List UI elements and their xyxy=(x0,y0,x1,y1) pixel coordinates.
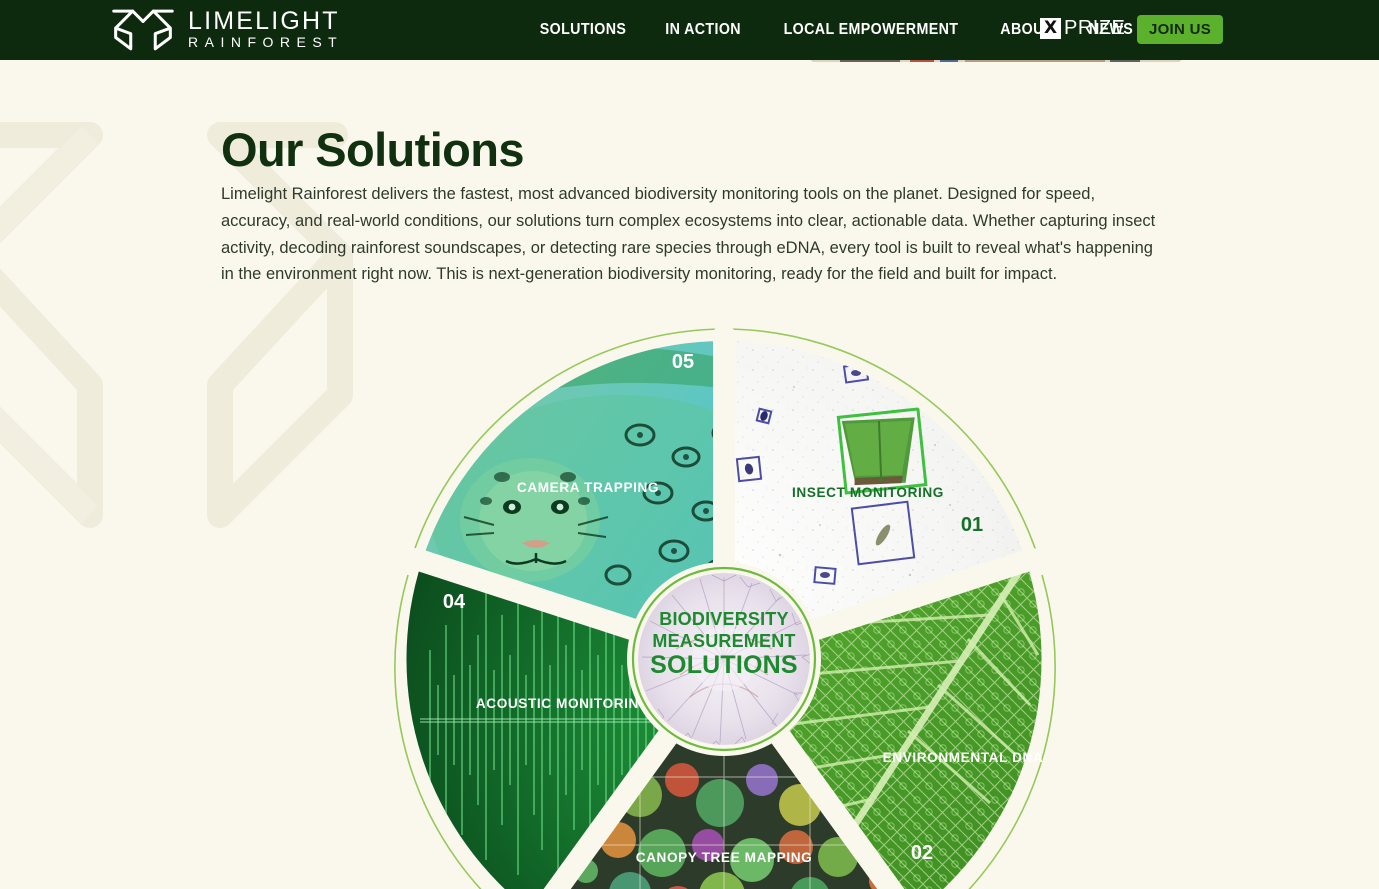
segment-number-04: 04 xyxy=(443,591,466,613)
xprize-wordmark: PRIZE xyxy=(1064,18,1125,39)
butterfly-logo-icon xyxy=(110,6,176,52)
segment-label-camera-trapping: CAMERA TRAPPING xyxy=(517,480,659,495)
segment-number-01: 01 xyxy=(961,514,983,536)
xprize-logo[interactable]: X PRIZE xyxy=(1040,18,1125,39)
xprize-x-icon: X xyxy=(1040,18,1061,39)
nav-item-in-action[interactable]: IN ACTION xyxy=(651,21,756,39)
page-title: Our Solutions xyxy=(221,122,524,178)
solutions-wheel-diagram: INSECT MONITORING 01 xyxy=(390,325,1058,889)
nav-item-solutions[interactable]: SOLUTIONS xyxy=(525,21,641,39)
segment-number-02: 02 xyxy=(911,842,933,864)
site-header: LIMELIGHT RAINFOREST SOLUTIONS IN ACTION… xyxy=(0,0,1379,60)
section-description: Limelight Rainforest delivers the fastes… xyxy=(221,181,1161,288)
join-us-button[interactable]: JOIN US xyxy=(1137,15,1223,44)
page-root: LIMELIGHT RAINFOREST SOLUTIONS IN ACTION… xyxy=(0,0,1379,889)
segment-label-insect-monitoring: INSECT MONITORING xyxy=(792,485,944,500)
hub-line-1: BIODIVERSITY xyxy=(659,609,788,629)
brand-logo[interactable]: LIMELIGHT RAINFOREST xyxy=(110,6,343,52)
brand-name-line2: RAINFOREST xyxy=(188,34,343,51)
segment-label-canopy-tree-mapping: CANOPY TREE MAPPING xyxy=(636,850,813,865)
segment-label-acoustic-monitoring: ACOUSTIC MONITORING xyxy=(476,696,650,711)
wheel-hub[interactable]: BIODIVERSITY MEASUREMENT SOLUTIONS xyxy=(627,562,821,756)
brand-name-line1: LIMELIGHT xyxy=(188,8,343,34)
nav-item-local-empowerment[interactable]: LOCAL EMPOWERMENT xyxy=(769,21,973,39)
segment-number-05: 05 xyxy=(672,351,694,373)
hub-line-3: SOLUTIONS xyxy=(650,651,798,679)
hub-line-2: MEASUREMENT xyxy=(652,631,795,651)
segment-label-environmental-dna: ENVIRONMENTAL DNA xyxy=(883,750,1044,765)
